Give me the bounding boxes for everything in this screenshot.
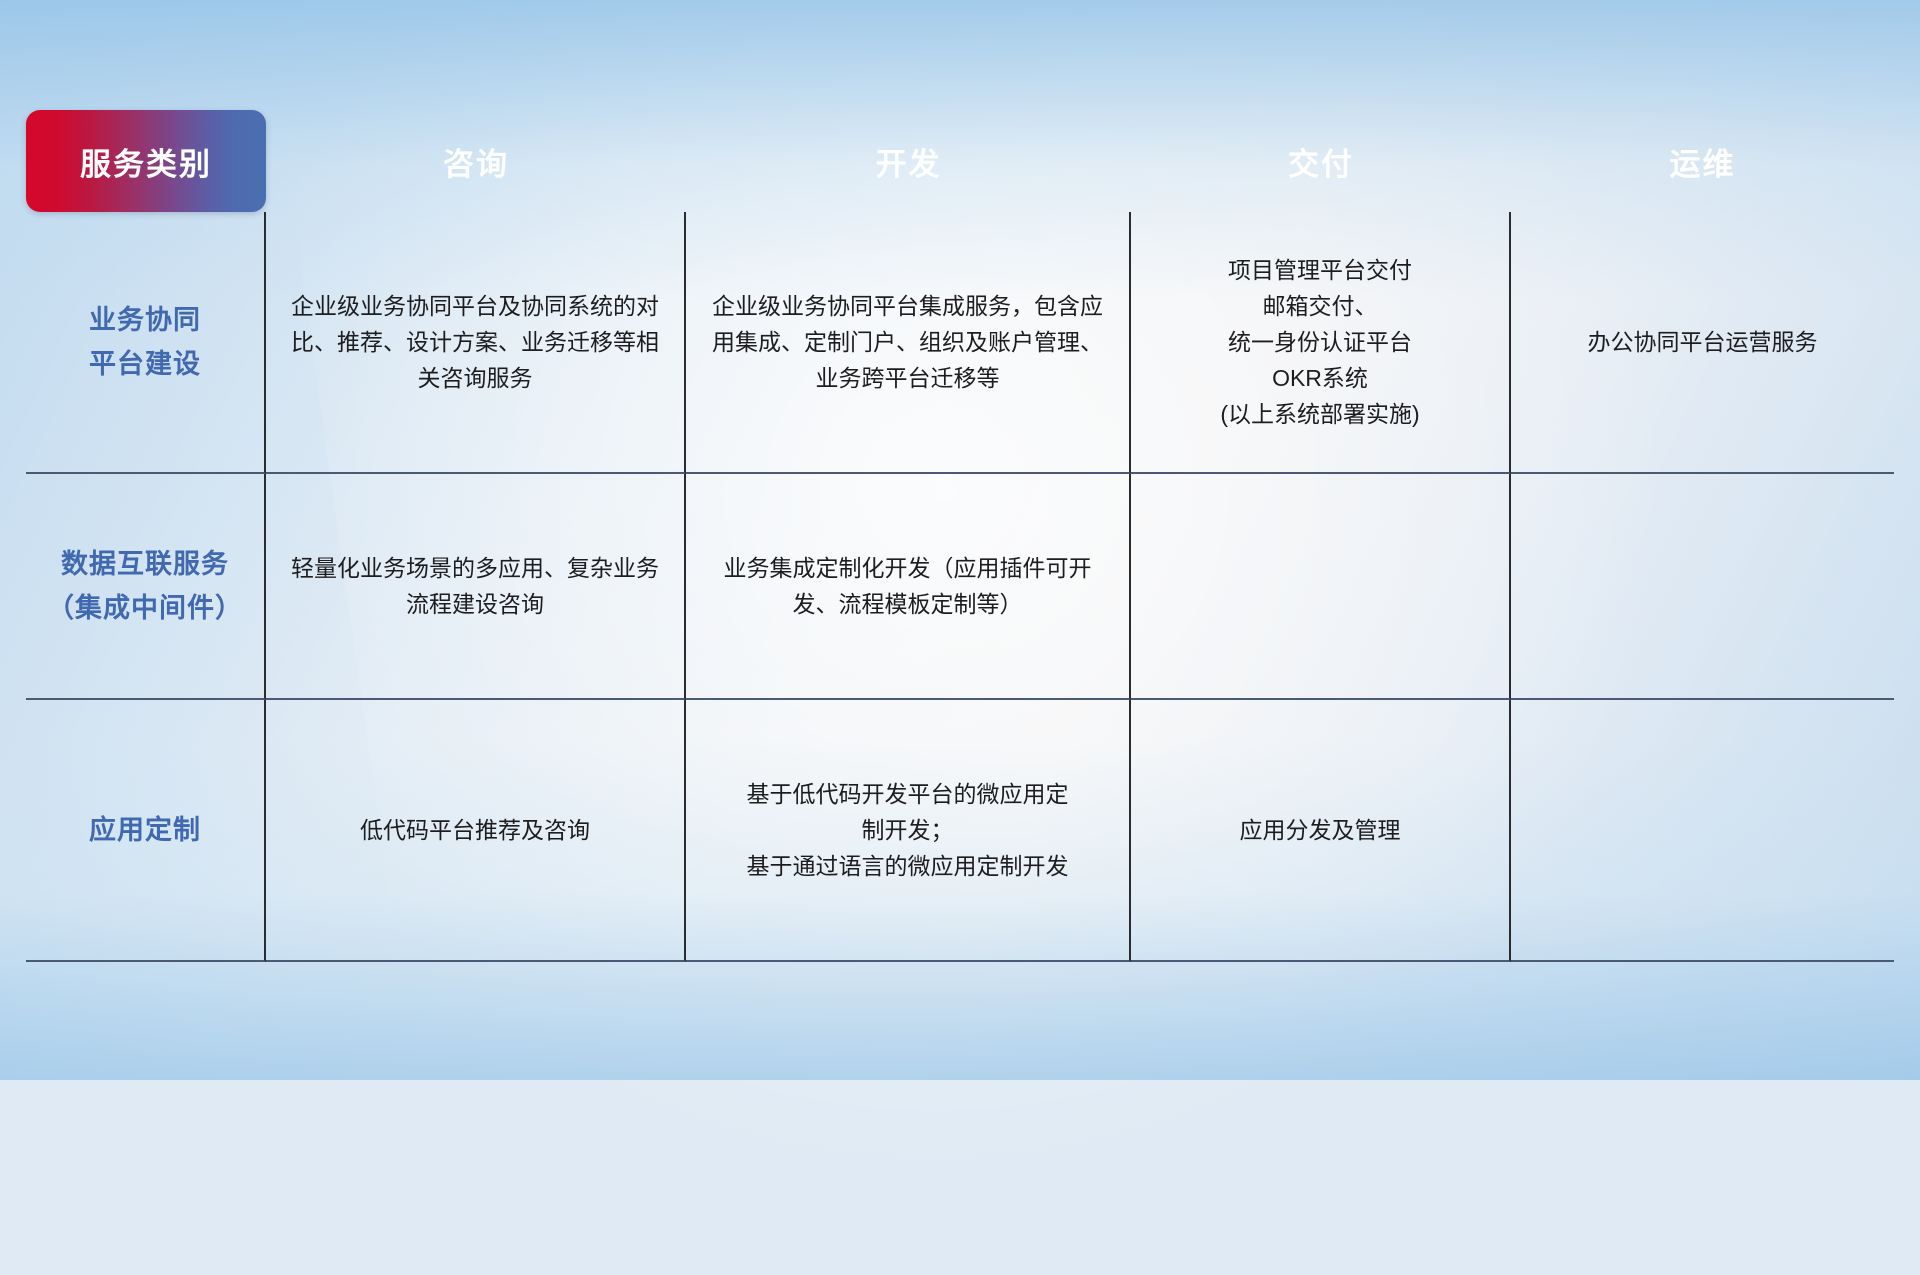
column-header-development: 开发 <box>686 110 1131 212</box>
row-3-development-cell: 基于低代码开发平台的微应用定 制开发； 基于通过语言的微应用定制开发 <box>686 700 1131 962</box>
column-header-category-label: 服务类别 <box>80 147 212 182</box>
row-3-development-line-3: 基于通过语言的微应用定制开发 <box>704 848 1111 884</box>
column-header-development-label: 开发 <box>876 147 942 182</box>
row-1-delivery-line-3: 统一身份认证平台 <box>1149 324 1491 360</box>
row-2-development-cell: 业务集成定制化开发（应用插件可开发、流程模板定制等） <box>686 474 1131 700</box>
service-matrix-table-wrapper: 服务类别 咨询 开发 交付 运维 业务协同 平台建 <box>26 110 1894 958</box>
row-3-development-line-1: 基于低代码开发平台的微应用定 <box>704 776 1111 812</box>
row-3-delivery-cell: 应用分发及管理 <box>1131 700 1511 962</box>
row-1-delivery-line-4: OKR系统 <box>1149 360 1491 396</box>
table-row: 数据互联服务 （集成中间件） 轻量化业务场景的多应用、复杂业务流程建设咨询 业务… <box>26 474 1894 700</box>
row-3-consulting-cell: 低代码平台推荐及咨询 <box>266 700 686 962</box>
row-2-delivery-cell <box>1131 474 1511 700</box>
row-3-category-line-1: 应用定制 <box>44 808 246 852</box>
row-1-operations-cell: 办公协同平台运营服务 <box>1511 212 1894 474</box>
row-1-consulting-cell: 企业级业务协同平台及协同系统的对比、推荐、设计方案、业务迁移等相关咨询服务 <box>266 212 686 474</box>
row-2-category-line-1: 数据互联服务 <box>44 542 246 586</box>
column-header-category: 服务类别 <box>26 110 266 212</box>
row-1-delivery-line-5: (以上系统部署实施) <box>1149 396 1491 432</box>
column-header-operations-label: 运维 <box>1670 147 1736 182</box>
table-row: 应用定制 低代码平台推荐及咨询 基于低代码开发平台的微应用定 制开发； 基于通过… <box>26 700 1894 962</box>
row-3-category-cell: 应用定制 <box>26 700 266 962</box>
column-header-delivery-label: 交付 <box>1288 147 1354 182</box>
row-2-category-cell: 数据互联服务 （集成中间件） <box>26 474 266 700</box>
table-row: 业务协同 平台建设 企业级业务协同平台及协同系统的对比、推荐、设计方案、业务迁移… <box>26 212 1894 474</box>
row-3-operations-cell <box>1511 700 1894 962</box>
column-header-operations: 运维 <box>1511 110 1894 212</box>
column-header-consulting-label: 咨询 <box>443 147 509 182</box>
row-2-category-line-2: （集成中间件） <box>44 586 246 630</box>
row-1-category-cell: 业务协同 平台建设 <box>26 212 266 474</box>
row-1-category-line-2: 平台建设 <box>44 342 246 386</box>
column-header-delivery: 交付 <box>1131 110 1511 212</box>
row-1-category-line-1: 业务协同 <box>44 298 246 342</box>
row-2-operations-cell <box>1511 474 1894 700</box>
row-1-delivery-line-1: 项目管理平台交付 <box>1149 252 1491 288</box>
table-body: 业务协同 平台建设 企业级业务协同平台及协同系统的对比、推荐、设计方案、业务迁移… <box>26 212 1894 962</box>
service-matrix-table: 服务类别 咨询 开发 交付 运维 业务协同 平台建 <box>26 110 1894 962</box>
table-header-row: 服务类别 咨询 开发 交付 运维 <box>26 110 1894 212</box>
row-3-development-line-2: 制开发； <box>704 812 1111 848</box>
row-1-delivery-line-2: 邮箱交付、 <box>1149 288 1491 324</box>
row-1-development-cell: 企业级业务协同平台集成服务，包含应用集成、定制门户、组织及账户管理、业务跨平台迁… <box>686 212 1131 474</box>
row-2-consulting-cell: 轻量化业务场景的多应用、复杂业务流程建设咨询 <box>266 474 686 700</box>
table-header: 服务类别 咨询 开发 交付 运维 <box>26 110 1894 212</box>
column-header-consulting: 咨询 <box>266 110 686 212</box>
row-1-delivery-cell: 项目管理平台交付 邮箱交付、 统一身份认证平台 OKR系统 (以上系统部署实施) <box>1131 212 1511 474</box>
